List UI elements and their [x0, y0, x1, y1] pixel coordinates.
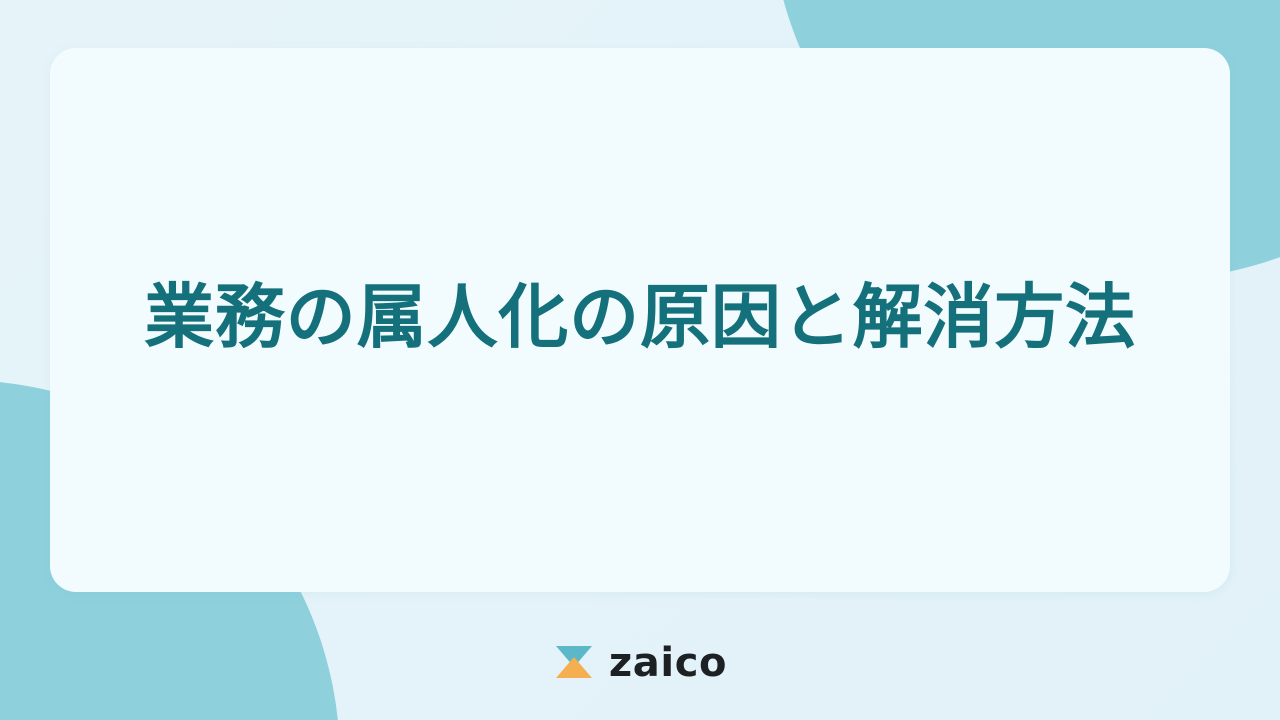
slide-canvas: 業務の属人化の原因と解消方法 zaico — [0, 0, 1280, 720]
page-title: 業務の属人化の原因と解消方法 — [144, 274, 1136, 362]
brand-wordmark: zaico — [609, 643, 727, 683]
title-card: 業務の属人化の原因と解消方法 — [50, 48, 1230, 592]
zaico-z-mark-icon — [553, 642, 595, 682]
brand-logo: zaico — [0, 638, 1280, 686]
